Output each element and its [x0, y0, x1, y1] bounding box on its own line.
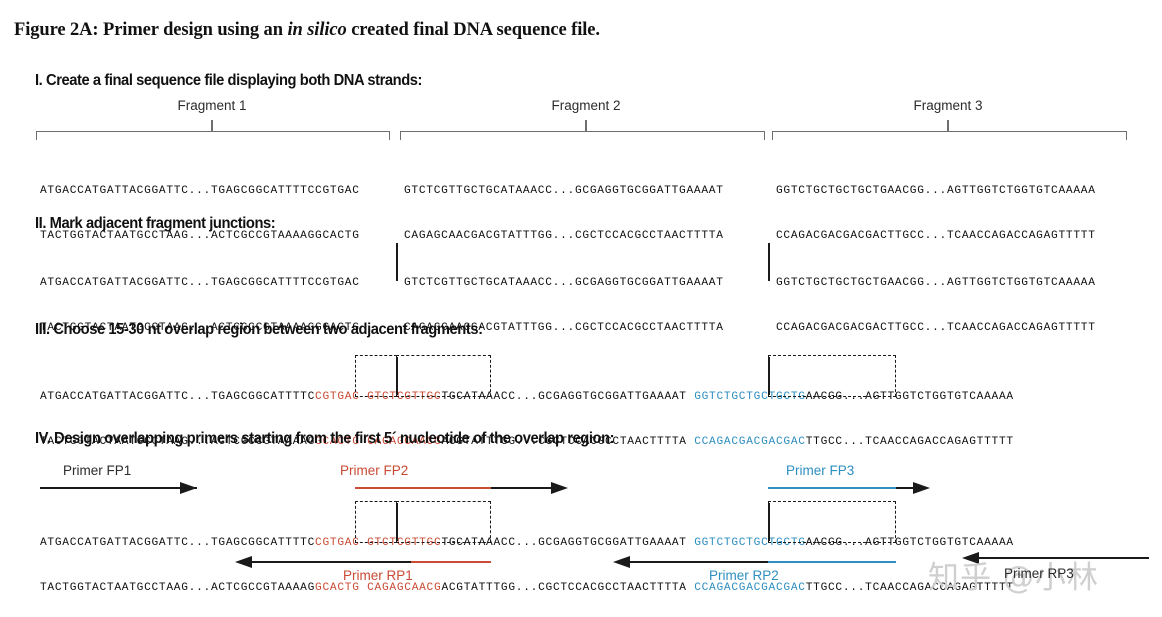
primer-rp1-line-overlap	[411, 561, 491, 563]
overlap-box-left-fragment2	[396, 355, 491, 397]
primer-fp2-line-extension	[491, 487, 558, 489]
primer-rp1-arrowhead-icon	[235, 556, 252, 568]
fragment-3-bracket	[772, 131, 1127, 140]
primer-rp2-arrowhead-icon	[613, 556, 630, 568]
primer-rp3-label: Primer RP3	[1004, 566, 1074, 581]
primer-fp3-line-overlap	[768, 487, 896, 489]
fragment-1-bracket-tick	[211, 120, 213, 131]
seq-plain: ATGACCATGATTACGGATTC...TGAGCGGCATTTTC	[40, 537, 315, 549]
sequence-bottom-strand: TACTGGTACTAATGCCTAAG...ACTCGCCGTAAAAGGCA…	[40, 581, 1014, 596]
fragment-3-bracket-tick	[947, 120, 949, 131]
step-4-heading: IV. Design overlapping primers starting …	[35, 430, 614, 448]
primer-fp2-label: Primer FP2	[340, 463, 408, 478]
sequence-bottom-strand: CCAGACGACGACGACTTGCC...TCAACCAGACCAGAGTT…	[776, 229, 1096, 244]
step-1-sequence-fragment-3: GGTCTGCTGCTGCTGAACGG...AGTTGGTCTGGTGTCAA…	[776, 154, 1096, 259]
fragment-2-label: Fragment 2	[486, 98, 686, 113]
sequence-top-strand: ATGACCATGATTACGGATTC...TGAGCGGCATTTTCCGT…	[40, 184, 360, 199]
seq-overlap-orange-left: CGTGAC	[315, 537, 360, 549]
junction-bar-1	[396, 243, 398, 281]
junction-bar-2	[768, 243, 770, 281]
seq-overlap-blue: CCAGACGACGACGAC	[694, 436, 806, 448]
primer-fp2-arrowhead-icon	[551, 482, 568, 494]
fragment-2-bracket	[400, 131, 765, 140]
seq-overlap-orange-left: CGTGAC	[315, 391, 360, 403]
primer-fp2-line-overlap	[355, 487, 491, 489]
sequence-top-strand: GGTCTGCTGCTGCTGAACGG...AGTTGGTCTGGTGTCAA…	[776, 184, 1096, 199]
seq-plain: TTGCC...TCAACCAGACCAGAGTTTTT	[806, 436, 1014, 448]
seq-plain: ACGTATTTGG...CGCTCCACGCCTAACTTTTA	[441, 582, 686, 594]
step-2-heading: II. Mark adjacent fragment junctions:	[35, 215, 275, 233]
fragment-2-bracket-tick	[585, 120, 587, 131]
step-2-sequence-fragment-3: GGTCTGCTGCTGCTGAACGG...AGTTGGTCTGGTGTCAA…	[776, 246, 1096, 351]
primer-fp3-arrowhead-icon	[913, 482, 930, 494]
seq-plain: ATGACCATGATTACGGATTC...TGAGCGGCATTTTC	[40, 391, 315, 403]
primer-rp1-label: Primer RP1	[343, 568, 413, 583]
primer-fp1-line	[40, 487, 197, 489]
seq-overlap-orange-left: GCACTG	[315, 582, 360, 594]
seq-overlap-orange-right: CAGAGCAACG	[367, 582, 441, 594]
step-1-sequence-fragment-1: ATGACCATGATTACGGATTC...TGAGCGGCATTTTCCGT…	[40, 154, 360, 259]
primer-fp1-label: Primer FP1	[63, 463, 131, 478]
primer-rp2-label: Primer RP2	[709, 568, 779, 583]
seq-overlap-blue: CCAGACGACGACGAC	[694, 582, 806, 594]
sequence-top-strand: GTCTCGTTGCTGCATAAACC...GCGAGGTGCGGATTGAA…	[404, 276, 724, 291]
figure-title: Figure 2A: Primer design using an in sil…	[14, 20, 600, 41]
overlap-box-right	[768, 501, 896, 543]
figure-title-pre: Figure 2A: Primer design using an	[14, 20, 287, 40]
fragment-1-label: Fragment 1	[112, 98, 312, 113]
sequence-top-strand: GGTCTGCTGCTGCTGAACGG...AGTTGGTCTGGTGTCAA…	[776, 276, 1096, 291]
step-1-sequence-fragment-2: GTCTCGTTGCTGCATAAACC...GCGAGGTGCGGATTGAA…	[404, 154, 724, 259]
primer-rp2-line-overlap	[768, 561, 896, 563]
overlap-box-left-fragment1	[355, 501, 397, 543]
fragment-1-bracket	[36, 131, 390, 140]
seq-plain: TACTGGTACTAATGCCTAAG...ACTCGCCGTAAAAG	[40, 582, 315, 594]
step-3-heading: III. Choose 15-30 nt overlap region betw…	[35, 321, 483, 339]
fragment-3-label: Fragment 3	[848, 98, 1048, 113]
figure-title-post: created final DNA sequence file.	[347, 20, 600, 40]
primer-fp3-label: Primer FP3	[786, 463, 854, 478]
sequence-bottom-strand: CAGAGCAACGACGTATTTGG...CGCTCCACGCCTAACTT…	[404, 229, 724, 244]
sequence-bottom-strand: CCAGACGACGACGACTTGCC...TCAACCAGACCAGAGTT…	[776, 321, 1096, 336]
overlap-box-right	[768, 355, 896, 397]
primer-rp1-line-extension	[252, 561, 411, 563]
step-1-heading: I. Create a final sequence file displayi…	[35, 72, 422, 90]
sequence-top-strand: GTCTCGTTGCTGCATAAACC...GCGAGGTGCGGATTGAA…	[404, 184, 724, 199]
overlap-box-left-fragment1	[355, 355, 397, 397]
overlap-box-left-fragment2	[396, 501, 491, 543]
primer-rp2-line-extension	[630, 561, 768, 563]
sequence-top-strand: ATGACCATGATTACGGATTC...TGAGCGGCATTTTCCGT…	[40, 276, 360, 291]
primer-fp1-arrowhead-icon	[180, 482, 197, 494]
figure-title-emphasis: in silico	[287, 20, 346, 40]
